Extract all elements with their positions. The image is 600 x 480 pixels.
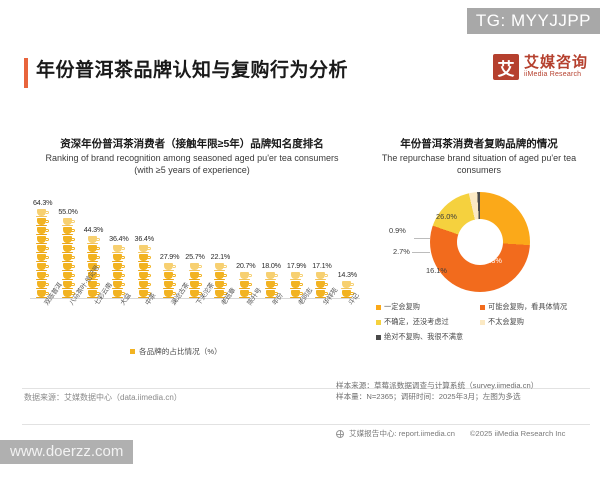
telegram-watermark: TG: MYYJJPP	[467, 8, 600, 34]
logo-name-cn: 艾媒咨询	[524, 55, 588, 71]
legend-swatch-icon	[376, 335, 381, 340]
teacup-icon	[112, 244, 125, 253]
legend-swatch-icon	[376, 320, 381, 325]
bar-value-label: 14.3%	[338, 270, 357, 279]
donut-slice-label: 26.0%	[436, 212, 457, 221]
page-title: 年份普洱茶品牌认知与复购行为分析	[36, 55, 348, 82]
legend-item[interactable]: 不太会复购	[480, 317, 590, 327]
legend-item[interactable]: 不确定，还没考虑过	[376, 317, 480, 327]
sample-source-line: 样本来源：草莓派数据调查与计算系统（survey.iimedia.cn）	[336, 380, 538, 391]
teacup-icon	[315, 271, 328, 280]
teacup-icon	[290, 271, 303, 280]
teacup-icon	[112, 271, 125, 280]
teacup-icon	[62, 244, 75, 253]
bar-value-label: 17.9%	[287, 261, 306, 270]
leader-line	[414, 238, 430, 239]
teacup-icon	[36, 244, 49, 253]
teacup-icon	[265, 280, 278, 289]
teacup-icon	[36, 262, 49, 271]
teacup-icon	[36, 208, 49, 217]
legend-item[interactable]: 一定会复购	[376, 302, 480, 312]
teacup-icon	[189, 262, 202, 271]
bar-value-label: 36.4%	[135, 234, 154, 243]
bar-legend-label: 各品牌的占比情况（%）	[139, 346, 222, 357]
legend-swatch-icon	[480, 320, 485, 325]
teacup-icon	[36, 226, 49, 235]
donut-ring	[430, 192, 530, 292]
globe-icon	[336, 430, 344, 438]
teacup-icon	[36, 271, 49, 280]
left-chart-title-en-1: Ranking of brand recognition among seaso…	[22, 153, 362, 165]
imedia-logo: 艾 艾媒咨询 iiMedia Research	[493, 54, 588, 80]
teacup-icon	[87, 253, 100, 262]
right-chart-title-en-1: The repurchase brand situation of aged p…	[368, 153, 590, 165]
right-chart-title-en-2: consumers	[368, 165, 590, 177]
teacup-icon	[112, 262, 125, 271]
teacup-icon	[214, 262, 227, 271]
legend-item[interactable]: 可能会复购，看具体情况	[480, 302, 590, 312]
legend-swatch-icon	[130, 349, 135, 354]
leader-line	[412, 252, 430, 253]
teacup-icon	[315, 280, 328, 289]
teacup-icon	[87, 244, 100, 253]
donut-chart-legend: 一定会复购可能会复购，看具体情况不确定，还没考虑过不太会复购绝对不复购、我很不满…	[376, 302, 590, 347]
report-center-bar: 艾媒报告中心: report.iimedia.cn ©2025 iiMedia …	[336, 428, 565, 439]
teacup-icon	[138, 262, 151, 271]
teacup-icon	[214, 271, 227, 280]
teacup-icon	[62, 217, 75, 226]
bar-value-label: 27.9%	[160, 252, 179, 261]
donut-slice-label: 16.1%	[426, 266, 447, 275]
footer-divider-bottom	[22, 424, 590, 425]
donut-slice-label: 0.9%	[389, 226, 406, 235]
bar-column: 36.4%	[134, 234, 155, 298]
bar-value-label: 64.3%	[33, 198, 52, 207]
bar-value-label: 36.4%	[109, 234, 128, 243]
logo-text: 艾媒咨询 iiMedia Research	[524, 55, 588, 78]
left-chart-title-en-2: (with ≥5 years of experience)	[22, 165, 362, 177]
teacup-icon	[341, 280, 354, 289]
left-chart-title-cn: 资深年份普洱茶消费者（接触年限≥5年）品牌知名度排名	[22, 138, 362, 152]
logo-mark-icon: 艾	[493, 54, 519, 80]
teacup-icon	[290, 280, 303, 289]
sample-source-block: 样本来源：草莓派数据调查与计算系统（survey.iimedia.cn） 样本量…	[336, 380, 538, 402]
legend-label: 绝对不复购、我很不满意	[384, 332, 463, 342]
teacup-icon	[265, 271, 278, 280]
teacup-icon	[62, 226, 75, 235]
teacup-icon	[36, 253, 49, 262]
bar-value-label: 20.7%	[236, 261, 255, 270]
teacup-icon	[163, 280, 176, 289]
bar-value-label: 55.0%	[58, 207, 77, 216]
bar-value-label: 25.7%	[185, 252, 204, 261]
teacup-icon	[62, 271, 75, 280]
teacup-icon	[138, 271, 151, 280]
logo-name-en: iiMedia Research	[524, 71, 588, 78]
bar-value-label: 18.0%	[261, 261, 280, 270]
x-axis-labels: 双陈普洱八马茶叶·信记号七彩云南大益中茶澜沧古茶下关沱茶老班章陈升号年份老同志华…	[30, 299, 360, 345]
legend-swatch-icon	[480, 305, 485, 310]
teacup-icon	[62, 235, 75, 244]
teacup-icon	[239, 280, 252, 289]
teacup-icon	[138, 253, 151, 262]
donut-slice-label: 2.7%	[393, 247, 410, 256]
teacup-icon	[87, 235, 100, 244]
teacup-icon	[62, 253, 75, 262]
title-accent-bar	[24, 58, 28, 88]
bar-value-label: 44.3%	[84, 225, 103, 234]
repurchase-chart-panel: 年份普洱茶消费者复购品牌的情况 The repurchase brand sit…	[368, 138, 590, 370]
legend-label: 一定会复购	[384, 302, 420, 312]
legend-label: 可能会复购，看具体情况	[488, 302, 567, 312]
teacup-icon	[163, 262, 176, 271]
donut-slice-label: 54.3%	[481, 256, 502, 265]
bar-column: 64.3%	[32, 198, 53, 298]
bar-value-label: 22.1%	[211, 252, 230, 261]
page-header: 年份普洱茶品牌认知与复购行为分析 艾 艾媒咨询 iiMedia Research	[0, 52, 600, 100]
teacup-icon	[112, 280, 125, 289]
site-watermark: www.doerzz.com	[0, 440, 133, 464]
teacup-icon	[112, 253, 125, 262]
teacup-icon	[189, 271, 202, 280]
bar-chart-legend: 各品牌的占比情况（%）	[130, 346, 222, 357]
teacup-icon	[163, 271, 176, 280]
donut-plot-area: 26.0%54.3%16.1%2.7%0.9%	[368, 190, 590, 298]
teacup-icon	[138, 280, 151, 289]
copyright-text: ©2025 iiMedia Research Inc	[470, 429, 566, 438]
bar-cup-stack	[36, 208, 49, 298]
bar-value-label: 17.1%	[312, 261, 331, 270]
teacup-icon	[138, 244, 151, 253]
legend-swatch-icon	[376, 305, 381, 310]
teacup-icon	[239, 271, 252, 280]
teacup-icon	[36, 217, 49, 226]
teacup-icon	[36, 280, 49, 289]
teacup-icon	[62, 262, 75, 271]
right-chart-title-cn: 年份普洱茶消费者复购品牌的情况	[368, 138, 590, 152]
brand-recognition-chart-panel: 资深年份普洱茶消费者（接触年限≥5年）品牌知名度排名 Ranking of br…	[22, 138, 362, 370]
legend-item[interactable]: 绝对不复购、我很不满意	[376, 332, 590, 342]
data-source-note: 数据来源：艾媒数据中心（data.iimedia.cn）	[24, 392, 182, 403]
legend-label: 不太会复购	[488, 317, 524, 327]
report-center-link[interactable]: 艾媒报告中心: report.iimedia.cn	[349, 428, 455, 439]
sample-size-line: 样本量：N=2365；调研时间：2025年3月；左图为多选	[336, 391, 538, 402]
legend-label: 不确定，还没考虑过	[384, 317, 449, 327]
teacup-icon	[36, 235, 49, 244]
